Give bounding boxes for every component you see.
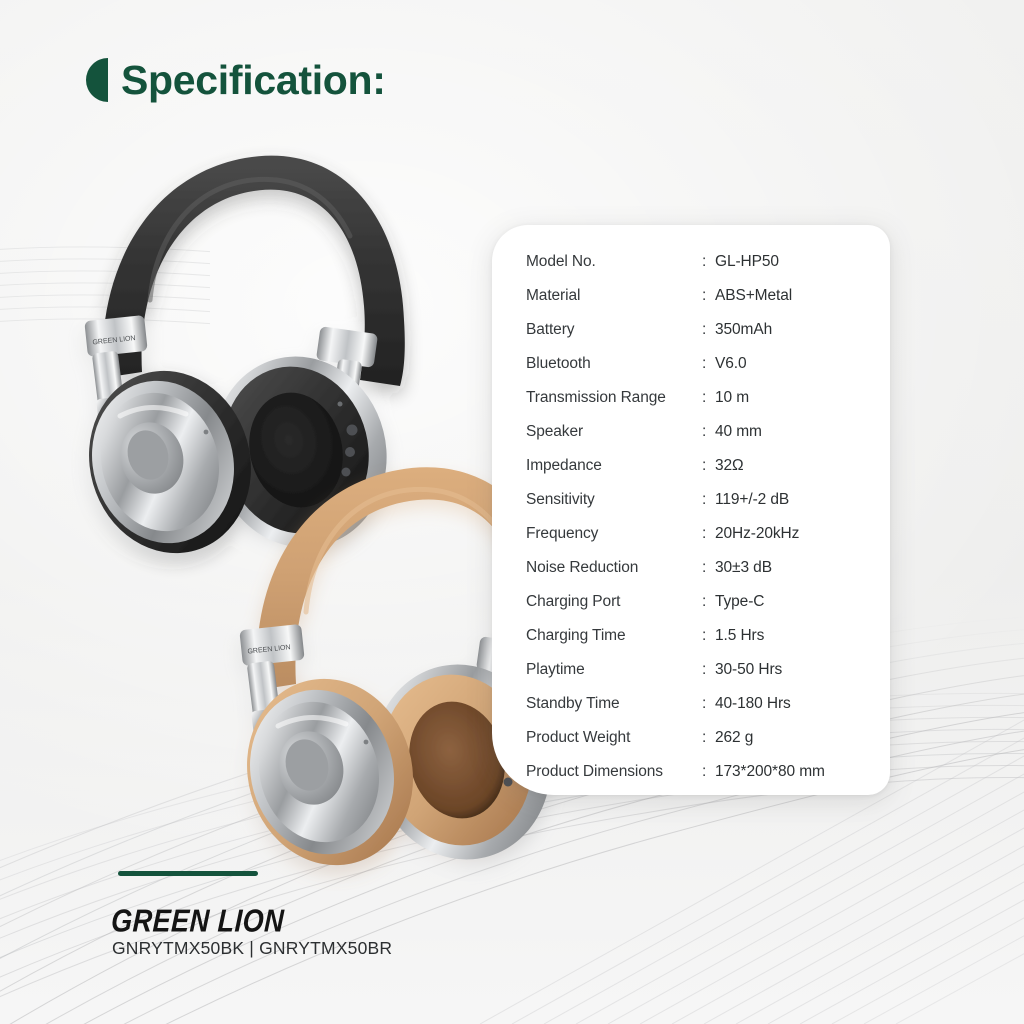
spec-label: Product Dimensions bbox=[526, 763, 702, 781]
spec-value: 350mAh bbox=[715, 321, 772, 339]
headphones-black-product-image: GREEN LION bbox=[68, 156, 407, 573]
spec-separator: : bbox=[702, 695, 715, 713]
spec-separator: : bbox=[702, 763, 715, 781]
spec-value: V6.0 bbox=[715, 355, 747, 373]
spec-row-material: Material : ABS+Metal bbox=[526, 287, 876, 321]
spec-label: Charging Port bbox=[526, 593, 702, 611]
spec-value: 10 m bbox=[715, 389, 749, 407]
slider-brand-label-black-left: GREEN LION bbox=[92, 335, 136, 346]
brand-name: GREEN LION bbox=[110, 903, 285, 940]
spec-row-speaker: Speaker : 40 mm bbox=[526, 423, 876, 457]
spec-row-transmission-range: Transmission Range : 10 m bbox=[526, 389, 876, 423]
brand-divider-rule bbox=[118, 871, 258, 876]
spec-row-playtime: Playtime : 30-50 Hrs bbox=[526, 661, 876, 695]
spec-value: ABS+Metal bbox=[715, 287, 792, 305]
spec-label: Material bbox=[526, 287, 702, 305]
spec-label: Product Weight bbox=[526, 729, 702, 747]
spec-separator: : bbox=[702, 389, 715, 407]
spec-row-frequency: Frequency : 20Hz-20kHz bbox=[526, 525, 876, 559]
spec-label: Charging Time bbox=[526, 627, 702, 645]
spec-separator: : bbox=[702, 729, 715, 747]
spec-row-impedance: Impedance : 32Ω bbox=[526, 457, 876, 491]
spec-separator: : bbox=[702, 661, 715, 679]
spec-separator: : bbox=[702, 627, 715, 645]
spec-value: 262 g bbox=[715, 729, 753, 747]
page-title: Specification: bbox=[86, 58, 386, 102]
spec-row-battery: Battery : 350mAh bbox=[526, 321, 876, 355]
specification-product-sheet: Specification: bbox=[0, 0, 1024, 1024]
spec-separator: : bbox=[702, 525, 715, 543]
spec-separator: : bbox=[702, 593, 715, 611]
spec-separator: : bbox=[702, 457, 715, 475]
spec-value: 30±3 dB bbox=[715, 559, 772, 577]
spec-row-product-weight: Product Weight : 262 g bbox=[526, 729, 876, 763]
spec-row-product-dimensions: Product Dimensions : 173*200*80 mm bbox=[526, 763, 876, 797]
spec-label: Playtime bbox=[526, 661, 702, 679]
spec-label: Impedance bbox=[526, 457, 702, 475]
spec-separator: : bbox=[702, 559, 715, 577]
spec-label: Noise Reduction bbox=[526, 559, 702, 577]
spec-value: 173*200*80 mm bbox=[715, 763, 825, 781]
spec-value: Type-C bbox=[715, 593, 764, 611]
spec-row-charging-port: Charging Port : Type-C bbox=[526, 593, 876, 627]
spec-value: GL-HP50 bbox=[715, 253, 779, 271]
specification-list: Model No. : GL-HP50 Material : ABS+Metal… bbox=[526, 253, 876, 797]
spec-separator: : bbox=[702, 423, 715, 441]
spec-row-noise-reduction: Noise Reduction : 30±3 dB bbox=[526, 559, 876, 593]
spec-row-charging-time: Charging Time : 1.5 Hrs bbox=[526, 627, 876, 661]
spec-separator: : bbox=[702, 321, 715, 339]
spec-separator: : bbox=[702, 491, 715, 509]
slider-brand-label-tan-left: GREEN LION bbox=[247, 644, 291, 655]
spec-separator: : bbox=[702, 253, 715, 271]
spec-row-standby-time: Standby Time : 40-180 Hrs bbox=[526, 695, 876, 729]
spec-value: 20Hz-20kHz bbox=[715, 525, 799, 543]
spec-value: 1.5 Hrs bbox=[715, 627, 764, 645]
spec-label: Speaker bbox=[526, 423, 702, 441]
spec-value: 30-50 Hrs bbox=[715, 661, 782, 679]
spec-label: Transmission Range bbox=[526, 389, 702, 407]
spec-label: Standby Time bbox=[526, 695, 702, 713]
spec-label: Battery bbox=[526, 321, 702, 339]
spec-value: 40-180 Hrs bbox=[715, 695, 791, 713]
spec-row-bluetooth: Bluetooth : V6.0 bbox=[526, 355, 876, 389]
spec-value: 32Ω bbox=[715, 457, 744, 475]
spec-value: 40 mm bbox=[715, 423, 762, 441]
spec-row-sensitivity: Sensitivity : 119+/-2 dB bbox=[526, 491, 876, 525]
spec-label: Model No. bbox=[526, 253, 702, 271]
spec-label: Bluetooth bbox=[526, 355, 702, 373]
spec-separator: : bbox=[702, 287, 715, 305]
specification-card: Model No. : GL-HP50 Material : ABS+Metal… bbox=[492, 225, 890, 795]
page-title-text: Specification: bbox=[121, 60, 386, 101]
product-sku-codes: GNRYTMX50BK | GNRYTMX50BR bbox=[112, 938, 392, 959]
spec-value: 119+/-2 dB bbox=[715, 491, 789, 509]
spec-separator: : bbox=[702, 355, 715, 373]
spec-label: Frequency bbox=[526, 525, 702, 543]
half-disc-bullet-icon bbox=[86, 58, 108, 102]
spec-row-model-no: Model No. : GL-HP50 bbox=[526, 253, 876, 287]
spec-label: Sensitivity bbox=[526, 491, 702, 509]
